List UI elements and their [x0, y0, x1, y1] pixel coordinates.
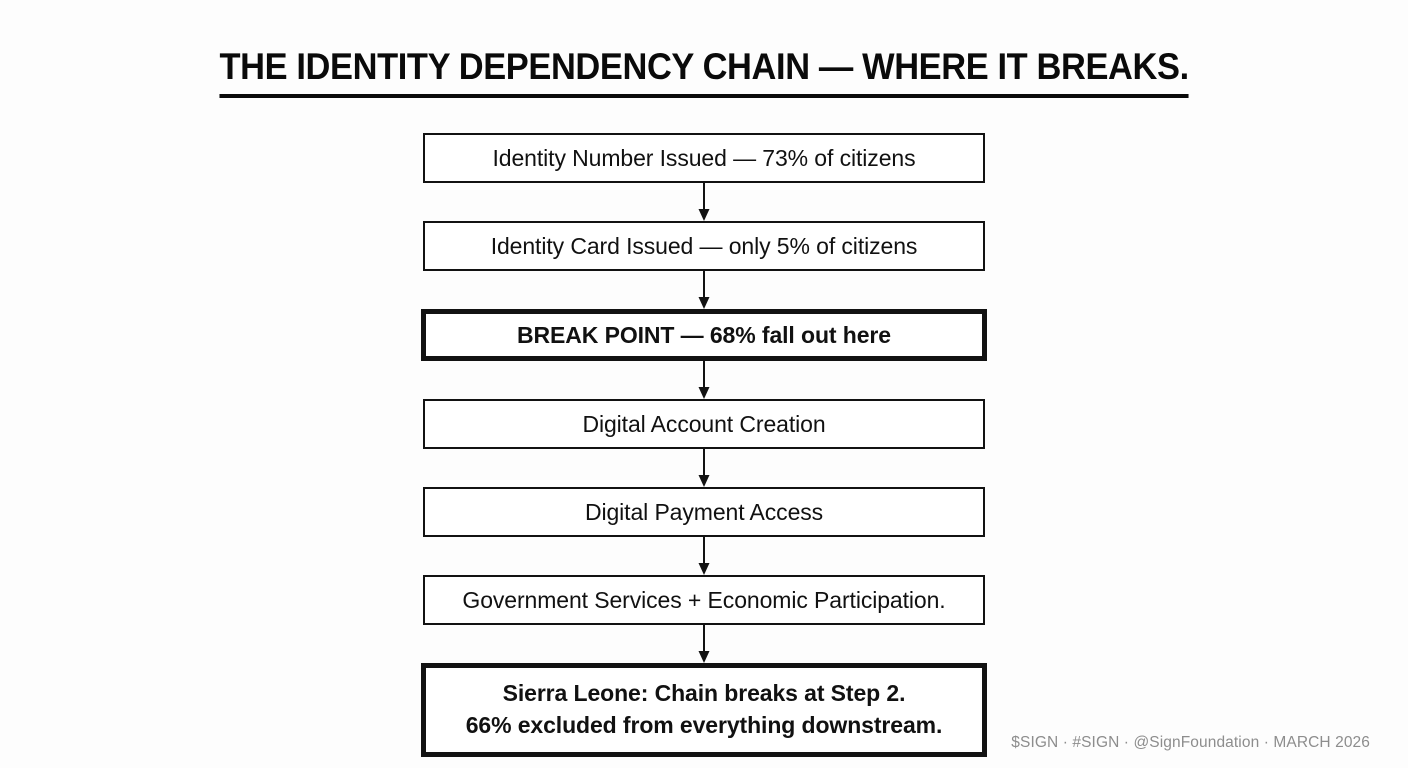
flow-node-step-6: Government Services + Economic Participa…: [423, 575, 985, 625]
flow-arrow-1-to-2: [697, 183, 711, 221]
flow-node-label: BREAK POINT — 68% fall out here: [517, 321, 891, 349]
flow-arrow-4-to-5: [697, 449, 711, 487]
flow-node-label: Digital Payment Access: [585, 498, 823, 526]
flow-node-conclusion: Sierra Leone: Chain breaks at Step 2. 66…: [421, 663, 987, 756]
flowchart: Identity Number Issued — 73% of citizens…: [421, 133, 987, 757]
slide-canvas: THE IDENTITY DEPENDENCY CHAIN — WHERE IT…: [0, 0, 1408, 768]
flow-arrow-3-to-4: [697, 361, 711, 399]
flow-node-label: Identity Card Issued — only 5% of citize…: [491, 232, 918, 260]
flow-arrow-6-to-7: [697, 625, 711, 663]
flow-node-label: Identity Number Issued — 73% of citizens: [493, 144, 916, 172]
flow-node-label-group: Sierra Leone: Chain breaks at Step 2. 66…: [466, 678, 943, 741]
flow-node-step-4: Digital Account Creation: [423, 399, 985, 449]
conclusion-line-1: Sierra Leone: Chain breaks at Step 2.: [503, 680, 906, 706]
flow-arrow-5-to-6: [697, 537, 711, 575]
footer-attribution: $SIGN · #SIGN · @SignFoundation · MARCH …: [1011, 734, 1370, 752]
title-container: THE IDENTITY DEPENDENCY CHAIN — WHERE IT…: [0, 48, 1408, 98]
flow-node-step-2: Identity Card Issued — only 5% of citize…: [423, 221, 985, 271]
flow-node-label: Digital Account Creation: [582, 410, 825, 438]
flow-node-step-1: Identity Number Issued — 73% of citizens: [423, 133, 985, 183]
flow-arrow-2-to-3: [697, 271, 711, 309]
flow-node-break-point: BREAK POINT — 68% fall out here: [421, 309, 987, 361]
page-title: THE IDENTITY DEPENDENCY CHAIN — WHERE IT…: [219, 48, 1188, 98]
flow-node-step-5: Digital Payment Access: [423, 487, 985, 537]
flow-node-label: Government Services + Economic Participa…: [462, 586, 945, 614]
conclusion-line-2: 66% excluded from everything downstream.: [466, 712, 943, 738]
